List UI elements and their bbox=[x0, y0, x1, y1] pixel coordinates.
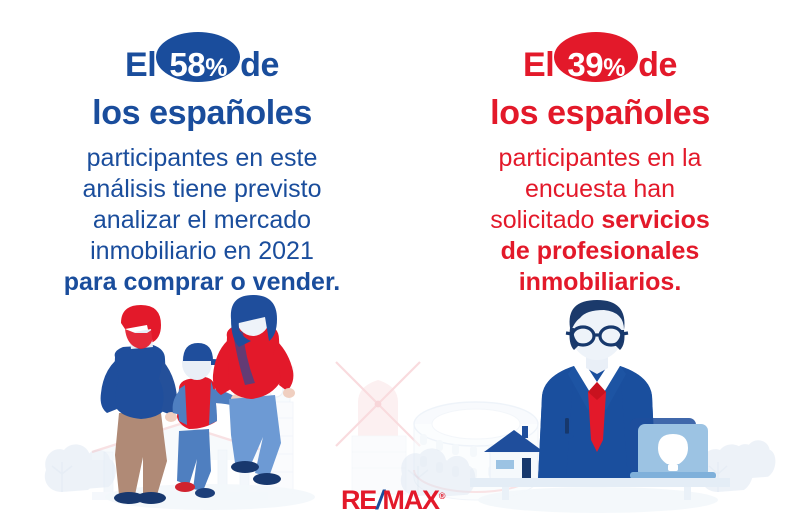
left-headline-suffix: de bbox=[240, 46, 279, 84]
right-body-line-3-normal: solicitado bbox=[490, 206, 601, 234]
agent-figure bbox=[538, 300, 656, 480]
left-body-copy: participantes en este análisis tiene pre… bbox=[32, 143, 372, 298]
child-figure bbox=[173, 343, 243, 498]
logo-trademark: ® bbox=[439, 491, 444, 501]
left-body-line-3: analizar el mercado bbox=[32, 205, 372, 236]
house-model-icon bbox=[484, 426, 544, 480]
ground-shadow-right bbox=[478, 487, 718, 513]
left-body-line-2: análisis tiene previsto bbox=[32, 174, 372, 205]
right-body-line-5: inmobiliarios. bbox=[430, 267, 770, 298]
desk-leg-left bbox=[502, 487, 509, 500]
real-estate-agent-illustration bbox=[470, 300, 730, 500]
laptop-lightbulb-icon bbox=[630, 418, 716, 479]
right-headline-prefix: El bbox=[523, 46, 554, 84]
ground-shadow-left bbox=[105, 484, 315, 510]
left-stat-block: El 58% de los españoles participantes en… bbox=[32, 44, 372, 298]
right-body-line-2: encuesta han bbox=[430, 174, 770, 205]
family-walking-illustration bbox=[85, 295, 335, 505]
left-body-line-1: participantes en este bbox=[32, 143, 372, 174]
right-body-line-4: de profesionales bbox=[430, 236, 770, 267]
right-percent-badge: 39% bbox=[563, 44, 629, 89]
mother-figure bbox=[213, 295, 295, 485]
left-percent-badge: 58% bbox=[165, 44, 231, 89]
classical-building-icon bbox=[92, 424, 268, 500]
glasses-icon bbox=[566, 327, 628, 345]
left-headline: El 58% de los españoles bbox=[32, 44, 372, 134]
right-body-line-3-bold: servicios bbox=[601, 206, 709, 234]
right-headline-line2: los españoles bbox=[430, 92, 770, 134]
remax-logo: RE/MAX® bbox=[341, 487, 444, 514]
father-figure bbox=[101, 305, 178, 504]
left-percent-value: 58 bbox=[169, 46, 205, 83]
right-headline: El 39% de los españoles bbox=[430, 44, 770, 134]
desk-surface bbox=[470, 478, 730, 487]
left-headline-prefix: El bbox=[125, 46, 156, 84]
right-percent-value: 39 bbox=[567, 46, 603, 83]
bush-left-icon bbox=[45, 444, 116, 492]
left-body-line-5: para comprar o vender. bbox=[32, 267, 372, 298]
lightbulb-icon bbox=[658, 434, 688, 471]
left-body-line-4: inmobiliario en 2021 bbox=[32, 236, 372, 267]
right-body-line-3: solicitado servicios bbox=[430, 205, 770, 236]
clock-tower-icon bbox=[258, 350, 294, 494]
right-headline-suffix: de bbox=[638, 46, 677, 84]
desk-leg-right bbox=[684, 487, 691, 500]
bush-right-icon bbox=[701, 440, 776, 492]
left-headline-line2: los españoles bbox=[32, 92, 372, 134]
left-percent-sign: % bbox=[205, 54, 227, 82]
right-body-line-1: participantes en la bbox=[430, 143, 770, 174]
right-percent-sign: % bbox=[603, 54, 625, 82]
right-stat-block: El 39% de los españoles participantes en… bbox=[430, 44, 770, 298]
right-body-copy: participantes en la encuesta han solicit… bbox=[430, 143, 770, 298]
infographic-root: El 58% de los españoles participantes en… bbox=[0, 0, 800, 529]
logo-re: RE bbox=[341, 485, 376, 515]
logo-max: MAX bbox=[382, 485, 438, 515]
windmill-icon bbox=[336, 362, 420, 494]
